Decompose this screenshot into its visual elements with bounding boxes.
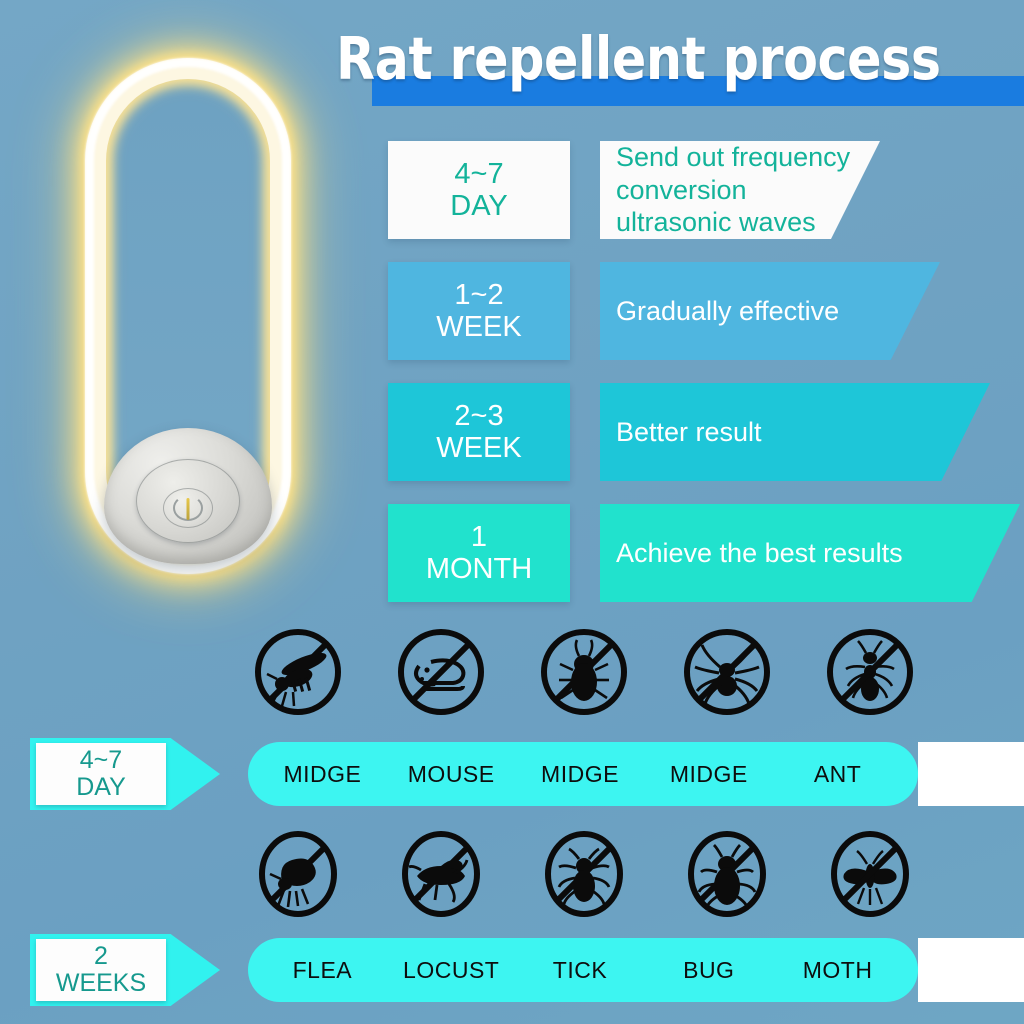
pest-label: BUG	[644, 957, 773, 984]
tag-bottom: DAY	[76, 774, 126, 801]
pest-label: MIDGE	[516, 761, 645, 788]
period-top: 1~2	[454, 279, 503, 311]
bar-tail-block-1	[918, 742, 1024, 806]
desc-line: ultrasonic waves	[616, 206, 850, 239]
timeline-row: 1 MONTH Achieve the best results	[388, 504, 1020, 602]
tag-bottom: WEEKS	[56, 970, 146, 997]
timeline-row: 1~2 WEEK Gradually effective	[388, 262, 1020, 360]
period-bottom: DAY	[450, 190, 507, 222]
timeline-description-2: Gradually effective	[600, 262, 940, 360]
desc-line: Gradually effective	[616, 295, 839, 328]
no-spider-icon	[677, 622, 777, 722]
power-button-icon	[163, 488, 213, 528]
timeline-row: 4~7 DAY Send out frequency conversion ul…	[388, 141, 1020, 239]
desc-line: Send out frequency	[616, 141, 850, 174]
timeline-period-1-2-week: 1~2 WEEK	[388, 262, 570, 360]
no-flea-icon	[248, 824, 348, 924]
tag-top: 4~7	[80, 747, 122, 774]
pest-label: FLEA	[258, 957, 387, 984]
pest-icon-row-2	[248, 824, 920, 924]
power-bar	[187, 498, 190, 520]
tag-top: 2	[94, 943, 108, 970]
pest-label-bar-2: FLEA LOCUST TICK BUG MOTH	[248, 938, 918, 1002]
period-bottom: WEEK	[436, 432, 521, 464]
no-bug-icon	[677, 824, 777, 924]
no-locust-icon	[391, 824, 491, 924]
period-top: 2~3	[454, 400, 503, 432]
period-bottom: MONTH	[426, 553, 532, 585]
pest-icon-row-1	[248, 622, 920, 722]
no-tick-icon	[534, 824, 634, 924]
timeline-description-3: Better result	[600, 383, 990, 481]
no-ant-icon	[820, 622, 920, 722]
no-midge-icon	[248, 622, 348, 722]
page-title: Rat repellent process	[336, 22, 928, 96]
desc-line: conversion	[616, 174, 850, 207]
pest-label: LOCUST	[387, 957, 516, 984]
pest-label: MOUSE	[387, 761, 516, 788]
bar-tail-block-2	[918, 938, 1024, 1002]
period-top: 4~7	[454, 158, 503, 190]
desc-line: Achieve the best results	[616, 537, 903, 570]
pest-label-bar-1: MIDGE MOUSE MIDGE MIDGE ANT	[248, 742, 918, 806]
timeline-description-1: Send out frequency conversion ultrasonic…	[600, 141, 880, 239]
duration-tag-inner: 2 WEEKS	[36, 939, 166, 1001]
pest-group-1: 4~7 DAY MIDGE MOUSE MIDGE MIDGE ANT	[0, 738, 1024, 810]
timeline-period-1-month: 1 MONTH	[388, 504, 570, 602]
process-timeline: 4~7 DAY Send out frequency conversion ul…	[388, 141, 1020, 625]
no-mouse-icon	[391, 622, 491, 722]
desc-line: Better result	[616, 416, 762, 449]
pest-label: MIDGE	[644, 761, 773, 788]
timeline-description-4: Achieve the best results	[600, 504, 1020, 602]
period-bottom: WEEK	[436, 311, 521, 343]
timeline-period-2-3-week: 2~3 WEEK	[388, 383, 570, 481]
pest-label: MIDGE	[258, 761, 387, 788]
timeline-row: 2~3 WEEK Better result	[388, 383, 1020, 481]
timeline-period-4-7-day: 4~7 DAY	[388, 141, 570, 239]
no-cockroach-icon	[534, 622, 634, 722]
infographic-page: Rat repellent process 4~7 DAY Send out f…	[0, 0, 1024, 1024]
duration-tag-2-weeks: 2 WEEKS	[30, 934, 220, 1006]
duration-tag-4-7-day: 4~7 DAY	[30, 738, 220, 810]
period-top: 1	[471, 521, 487, 553]
product-image	[48, 22, 328, 610]
pest-label: ANT	[773, 761, 902, 788]
lamp-dial	[136, 459, 240, 543]
page-title-block: Rat repellent process	[336, 22, 1024, 122]
pest-group-2: 2 WEEKS FLEA LOCUST TICK BUG MOTH	[0, 934, 1024, 1006]
no-moth-icon	[820, 824, 920, 924]
pest-label: TICK	[516, 957, 645, 984]
pest-label: MOTH	[773, 957, 902, 984]
duration-tag-inner: 4~7 DAY	[36, 743, 166, 805]
